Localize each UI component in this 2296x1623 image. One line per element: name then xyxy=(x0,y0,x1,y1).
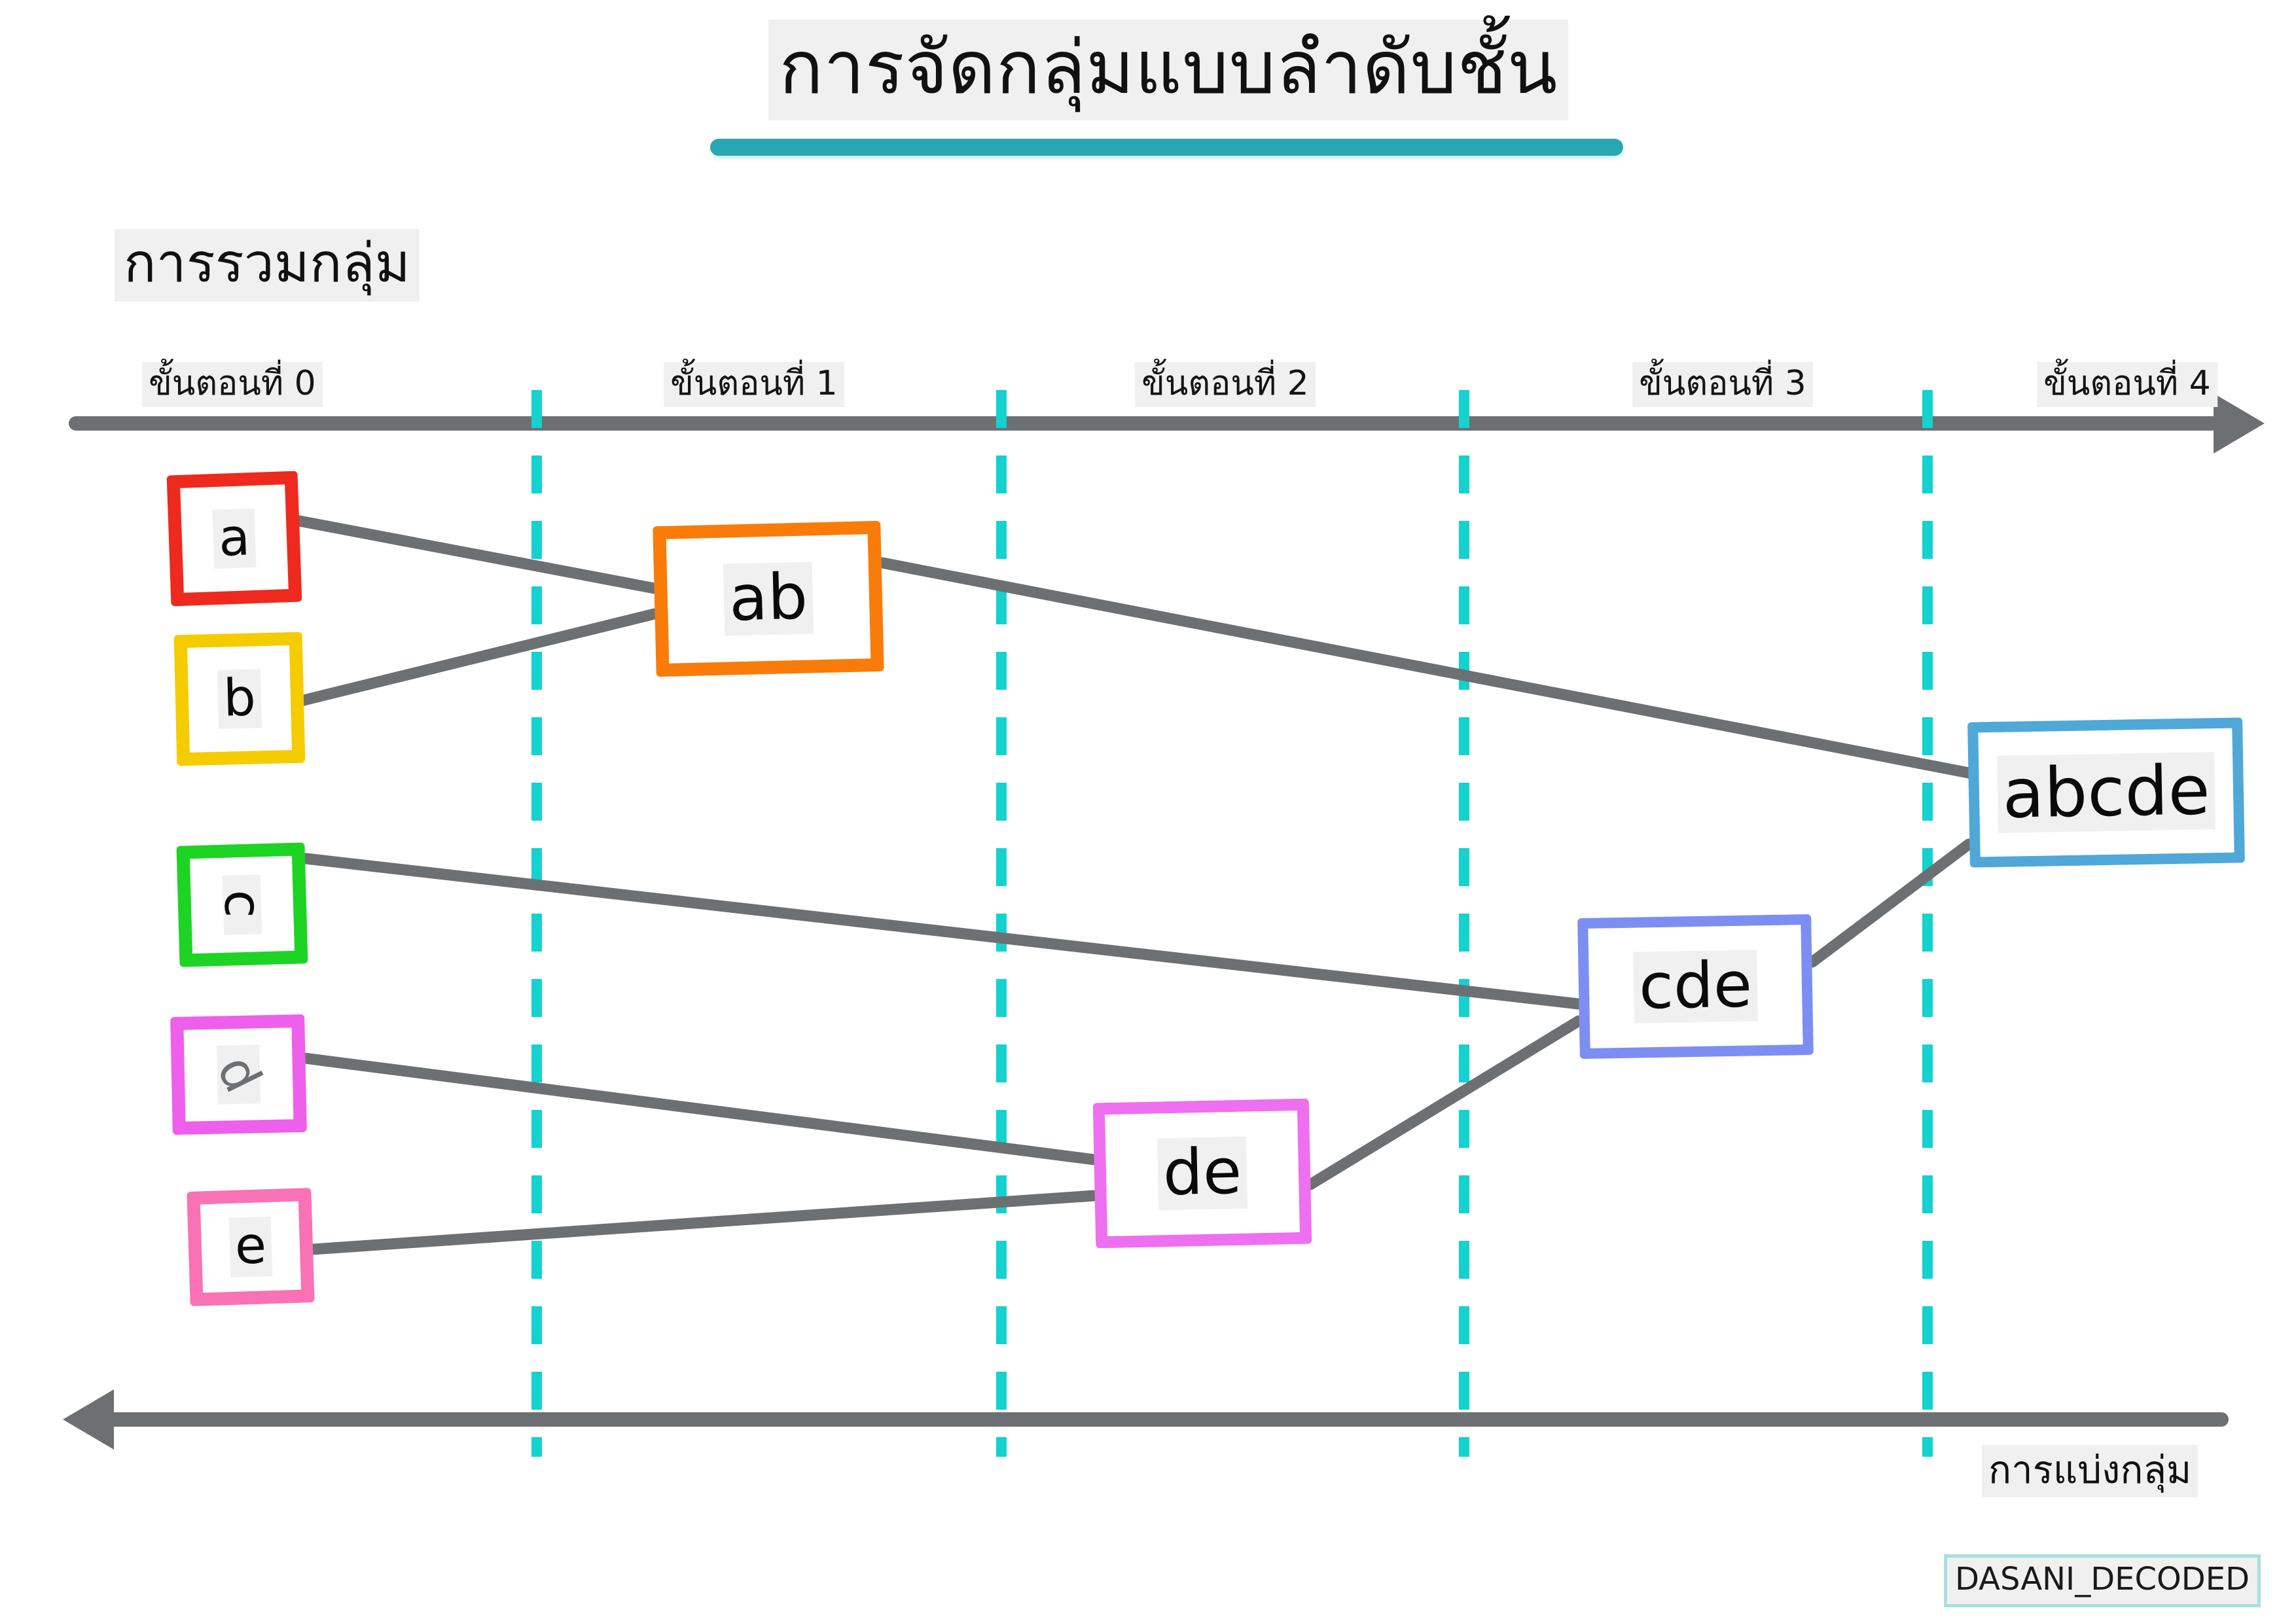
step-separator-3 xyxy=(1459,390,1469,1457)
watermark: DASANI_DECODED xyxy=(1944,1554,2261,1607)
link-de-to-cde xyxy=(1310,1021,1579,1185)
link-a-to-ab xyxy=(296,520,655,588)
step-label-0: ขั้นตอนที่ 0 xyxy=(142,362,323,407)
step-separator-2 xyxy=(996,390,1007,1457)
cluster-node-label: c xyxy=(222,875,262,935)
step-label-4: ขั้นตอนที่ 4 xyxy=(2037,362,2217,407)
cluster-node-ab[interactable]: ab xyxy=(653,521,884,677)
cluster-node-de[interactable]: de xyxy=(1093,1099,1312,1249)
step-label-2: ขั้นตอนที่ 2 xyxy=(1135,362,1316,407)
cluster-node-label: b xyxy=(217,669,262,729)
step-separator-4 xyxy=(1922,390,1933,1457)
link-b-to-ab xyxy=(301,614,655,701)
cluster-node-label: abcde xyxy=(1997,752,2216,833)
step-separator-1 xyxy=(531,390,542,1457)
arrow-right-icon xyxy=(2214,393,2265,454)
link-c-to-cde xyxy=(306,859,1579,1004)
step-label-1: ขั้นตอนที่ 1 xyxy=(664,362,844,407)
cluster-node-c[interactable]: c xyxy=(176,842,308,967)
cluster-node-label: d xyxy=(217,1044,260,1105)
step-label-3: ขั้นตอนที่ 3 xyxy=(1632,362,1813,407)
divisive-label-text: การแบ่งกลุ่ม xyxy=(1982,1445,2198,1497)
cluster-node-glyph: c xyxy=(215,890,270,918)
cluster-node-cde[interactable]: cde xyxy=(1577,914,1814,1059)
cluster-node-a[interactable]: a xyxy=(167,471,302,607)
cluster-node-label: e xyxy=(229,1217,273,1277)
cluster-node-label: ab xyxy=(723,562,814,636)
page-title-text: การจัดกลุ่มแบบลำดับชั้น xyxy=(768,20,1568,120)
link-e-to-de xyxy=(313,1196,1094,1249)
arrow-left-icon xyxy=(63,1389,114,1450)
cluster-node-e[interactable]: e xyxy=(187,1188,314,1306)
step-label-text: ขั้นตอนที่ 3 xyxy=(1632,362,1813,407)
link-d-to-de xyxy=(305,1058,1094,1160)
title-underline-bar xyxy=(710,139,1623,156)
divisive-label: การแบ่งกลุ่ม xyxy=(1982,1445,2198,1497)
cluster-node-label: cde xyxy=(1633,950,1758,1024)
diagram-canvas: การจัดกลุ่มแบบลำดับชั้น การรวมกลุ่ม ขั้น… xyxy=(0,0,2296,1623)
link-ab-to-abcde xyxy=(882,563,1969,773)
cluster-node-label: de xyxy=(1157,1137,1247,1210)
divisive-axis-line xyxy=(75,1412,2229,1427)
link-cde-to-abcde xyxy=(1812,844,1969,962)
step-label-text: ขั้นตอนที่ 4 xyxy=(2037,362,2217,407)
agglomerative-axis-line xyxy=(69,416,2229,431)
cluster-node-label: a xyxy=(213,508,257,569)
step-label-text: ขั้นตอนที่ 1 xyxy=(664,362,844,407)
page-title: การจัดกลุ่มแบบลำดับชั้น xyxy=(704,20,1633,120)
step-label-text: ขั้นตอนที่ 0 xyxy=(142,362,323,407)
cluster-node-d[interactable]: d xyxy=(170,1014,307,1135)
cluster-node-abcde[interactable]: abcde xyxy=(1967,717,2245,867)
step-label-text: ขั้นตอนที่ 2 xyxy=(1135,362,1316,407)
cluster-node-glyph: d xyxy=(207,1047,270,1101)
cluster-node-b[interactable]: b xyxy=(174,632,306,766)
agglomerative-label-text: การรวมกลุ่ม xyxy=(115,229,420,302)
agglomerative-label: การรวมกลุ่ม xyxy=(115,229,420,302)
